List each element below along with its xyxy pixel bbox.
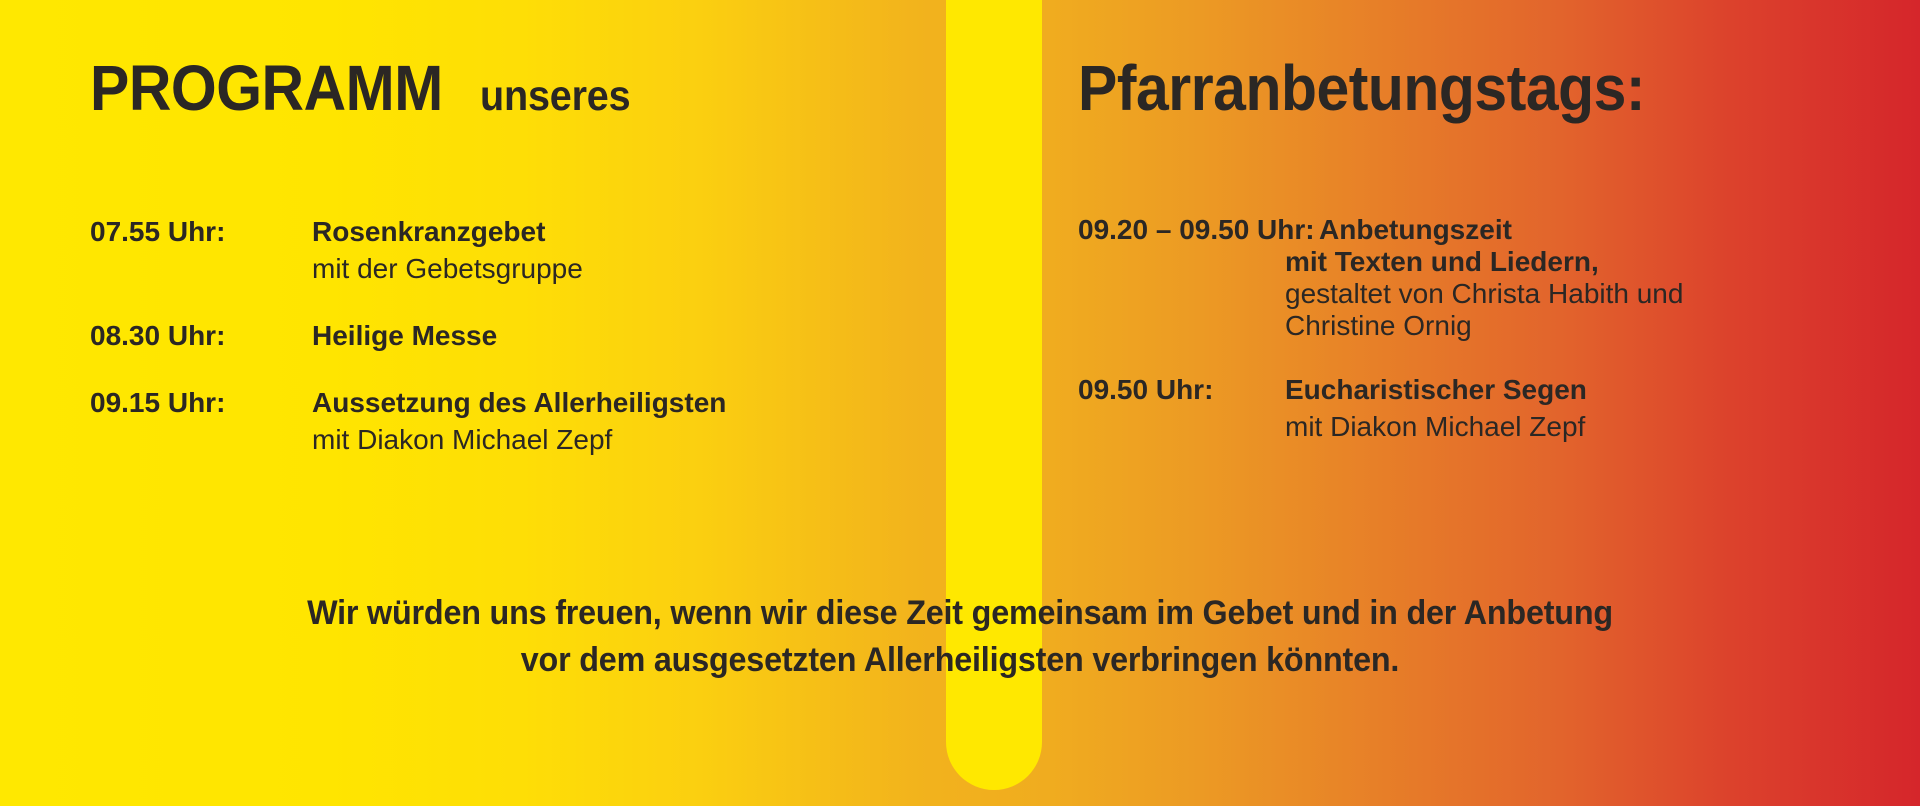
entry-title: Rosenkranzgebet [312, 214, 930, 251]
entry-spacer [0, 288, 930, 318]
left-schedule-list: 07.55 Uhr: Rosenkranzgebet mit der Gebet… [0, 214, 930, 459]
entry-note: mit Diakon Michael Zepf [1285, 409, 1920, 446]
entry-body: Heilige Messe [312, 318, 930, 355]
entry-time: 08.30 Uhr: [90, 318, 312, 355]
schedule-entry: 09.15 Uhr: Aussetzung des Allerheiligste… [0, 385, 930, 459]
entry-note-line-1: gestaltet von Christa Habith und [1285, 278, 1920, 310]
schedule-entry: 09.50 Uhr: Eucharistischer Segen mit Dia… [1000, 372, 1920, 446]
entry-time: 09.50 Uhr: [1078, 372, 1285, 409]
entry-note-line-2: Christine Ornig [1285, 310, 1920, 342]
entry-time: 09.15 Uhr: [90, 385, 312, 422]
schedule-entry: 07.55 Uhr: Rosenkranzgebet mit der Gebet… [0, 214, 930, 288]
schedule-entry: 08.30 Uhr: Heilige Messe [0, 318, 930, 355]
entry-spacer [0, 355, 930, 385]
entry-body: Aussetzung des Allerheiligsten mit Diako… [312, 385, 930, 459]
entry-time: 07.55 Uhr: [90, 214, 312, 251]
heading-unseres: unseres [480, 75, 630, 118]
entry-title-second-line: mit Texten und Liedern, [1285, 246, 1920, 278]
entry-note: mit Diakon Michael Zepf [312, 422, 930, 459]
entry-time: 09.20 – 09.50 Uhr: [1078, 214, 1315, 245]
entry-spacer [1000, 342, 1920, 372]
poster-canvas: PROGRAMMunseres 07.55 Uhr: Rosenkranzgeb… [0, 0, 1920, 806]
entry-title: Heilige Messe [312, 318, 930, 355]
poster-content: PROGRAMMunseres 07.55 Uhr: Rosenkranzgeb… [0, 0, 1920, 806]
closing-message-line-1: Wir würden uns freuen, wenn wir diese Ze… [48, 590, 1872, 637]
entry-title: Anbetungszeit [1319, 214, 1512, 245]
closing-message: Wir würden uns freuen, wenn wir diese Ze… [0, 590, 1920, 684]
heading-pfarranbetungstags: Pfarranbetungstags: [1078, 56, 1645, 120]
right-heading: Pfarranbetungstags: [1078, 56, 1694, 120]
schedule-entry: 09.20 – 09.50 Uhr: Anbetungszeit mit Tex… [1000, 214, 1920, 342]
heading-programm: PROGRAMM [90, 56, 443, 120]
entry-body: mit Texten und Liedern, gestaltet von Ch… [1078, 246, 1920, 342]
right-schedule-list: 09.20 – 09.50 Uhr: Anbetungszeit mit Tex… [1000, 214, 1920, 446]
closing-message-line-2: vor dem ausgesetzten Allerheiligsten ver… [48, 637, 1872, 684]
entry-title: Eucharistischer Segen [1285, 372, 1920, 409]
entry-body: Eucharistischer Segen mit Diakon Michael… [1285, 372, 1920, 446]
entry-body: Rosenkranzgebet mit der Gebetsgruppe [312, 214, 930, 288]
left-heading: PROGRAMMunseres [90, 56, 643, 120]
entry-title: Aussetzung des Allerheiligsten [312, 385, 930, 422]
entry-first-line: 09.20 – 09.50 Uhr: Anbetungszeit [1078, 214, 1920, 246]
entry-note: mit der Gebetsgruppe [312, 251, 930, 288]
